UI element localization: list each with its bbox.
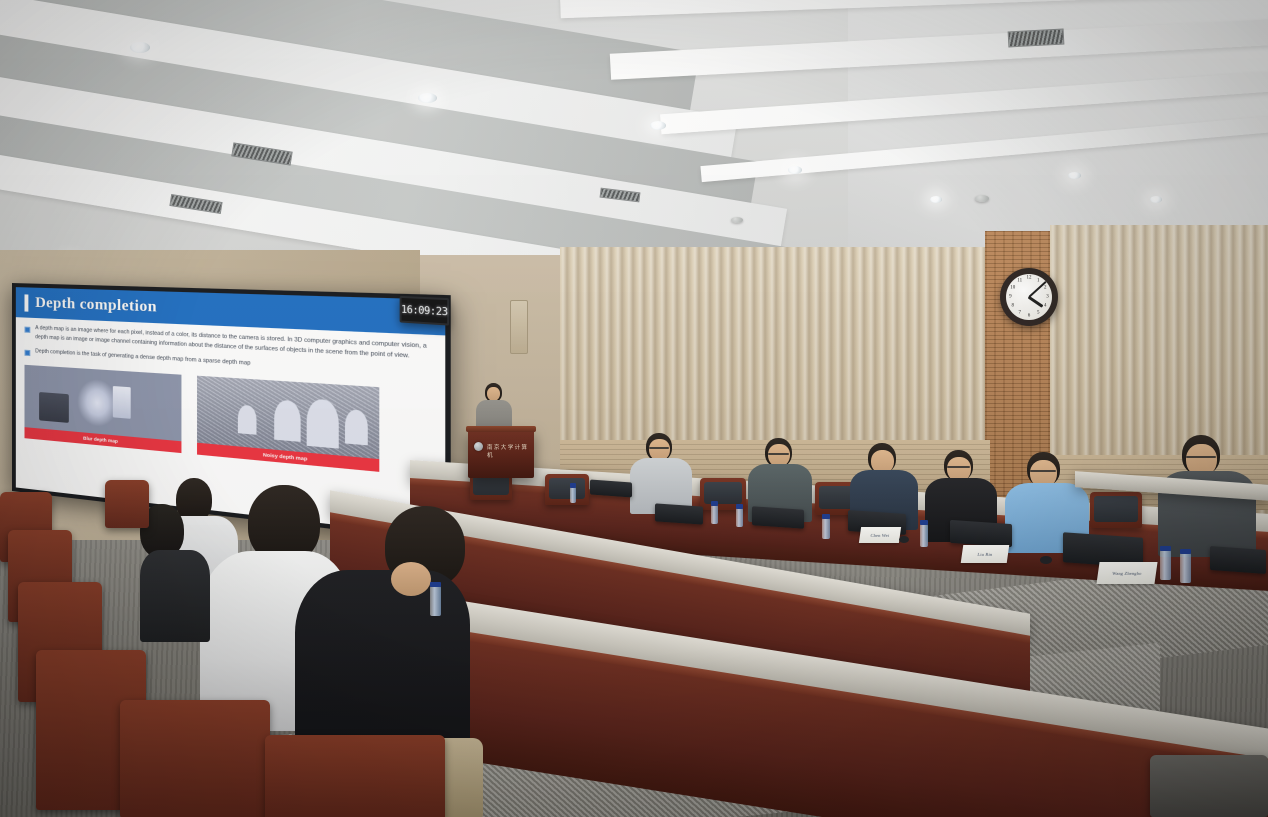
downlight-icon [130, 42, 150, 53]
microphone-icon[interactable] [899, 536, 909, 543]
downlight-icon [788, 166, 802, 174]
bullet-square-icon [24, 350, 30, 356]
name-card-text: Liu Bin [977, 552, 993, 557]
bottle-cap [920, 520, 928, 525]
clock-numeral: 1 [1037, 278, 1040, 283]
figure-caption-text: Noisy depth map [263, 452, 307, 462]
depth-person-blob [274, 400, 300, 442]
water-bottle[interactable] [570, 487, 576, 503]
smoke-detector-icon [975, 195, 989, 202]
conference-chair[interactable] [545, 474, 589, 505]
microphone-icon[interactable] [1040, 556, 1052, 564]
figure-noisy-depth-map: Noisy depth map [197, 376, 379, 472]
bottle-cap [711, 501, 718, 506]
clock-hour-hand [1028, 296, 1044, 308]
clock-numeral: 11 [1017, 278, 1022, 283]
slide-title: Depth completion [35, 294, 157, 316]
digital-wall-clock: 16:09:23 [400, 296, 449, 326]
presenter-face [487, 387, 500, 401]
laptop[interactable] [950, 520, 1012, 547]
water-bottle[interactable] [1160, 550, 1171, 580]
depth-person-blob [307, 398, 339, 448]
bottle-cap [570, 483, 576, 488]
wall-speaker [510, 300, 528, 354]
auditorium-chair[interactable] [105, 480, 149, 528]
auditorium-chair[interactable] [265, 735, 445, 817]
name-card: Liu Bin [961, 545, 1010, 563]
clock-numeral: 7 [1018, 311, 1021, 316]
chair-seat-pad [704, 482, 743, 504]
depth-bright-doorway [113, 386, 131, 419]
downlight-icon [418, 93, 437, 103]
water-bottle[interactable] [430, 586, 441, 616]
clock-numeral: 12 [1026, 276, 1031, 281]
downlight-icon [1068, 172, 1081, 179]
laptop[interactable] [752, 506, 804, 529]
audience-arm-hand [391, 562, 431, 596]
depth-person-blob [238, 404, 257, 434]
water-bottle[interactable] [711, 505, 718, 524]
air-vent-icon [1008, 29, 1065, 48]
panel-member [630, 433, 692, 511]
water-bottle[interactable] [920, 524, 928, 547]
bullet-square-icon [24, 327, 30, 333]
podium-institution-text: 南京大学计算机 [487, 443, 534, 459]
clock-numeral: 10 [1010, 285, 1015, 290]
name-card: Chen Wei [859, 527, 901, 543]
name-card-text: Wang Zhengbo [1112, 571, 1142, 576]
chair-seat-pad [549, 478, 586, 500]
downlight-icon [1150, 196, 1162, 203]
audience-member [140, 498, 210, 628]
chair-seat-pad [1094, 496, 1138, 521]
podium: 南京大学计算机 [468, 430, 534, 478]
clock-numeral: 3 [1046, 294, 1049, 299]
digital-clock-time: 16:09:23 [401, 303, 448, 319]
glasses-icon [649, 447, 669, 449]
depth-foreground-block [39, 392, 69, 423]
glasses-icon [1186, 456, 1216, 458]
downlight-icon [930, 196, 942, 203]
glasses-icon [1030, 470, 1056, 472]
audience-torso [140, 550, 210, 642]
bottle-cap [430, 582, 441, 587]
laptop[interactable] [590, 480, 632, 498]
water-bottle[interactable] [1180, 553, 1191, 583]
bottle-cap [1160, 546, 1171, 551]
water-bottle[interactable] [736, 508, 743, 527]
water-bottle[interactable] [822, 518, 830, 539]
auditorium-chair[interactable] [120, 700, 270, 817]
podium-top-surface [466, 426, 536, 432]
conference-room-photo: 12 1 2 3 4 5 6 7 8 9 10 11 Depth complet… [0, 0, 1268, 817]
conference-chair[interactable] [1090, 492, 1142, 528]
clock-numeral: 8 [1012, 304, 1015, 309]
smoke-detector-icon [731, 217, 743, 223]
clock-numeral: 2 [1044, 285, 1047, 290]
bottle-cap [822, 514, 830, 519]
clock-numeral: 4 [1044, 304, 1047, 309]
clock-numeral: 5 [1037, 311, 1040, 316]
figure-caption-text: Blur depth map [83, 436, 118, 444]
laptop[interactable] [1210, 546, 1266, 574]
floor-equipment [1150, 755, 1268, 817]
downlight-icon [650, 121, 666, 130]
clock-numeral: 6 [1028, 313, 1031, 318]
laptop[interactable] [655, 503, 703, 524]
glasses-icon [947, 466, 970, 468]
name-card-text: Chen Wei [870, 533, 890, 538]
bottle-cap [736, 504, 743, 509]
bottle-cap [1180, 549, 1191, 554]
clock-numeral: 9 [1009, 294, 1012, 299]
figure-blur-depth-map: Blur depth map [24, 365, 181, 453]
name-card: Wang Zhengbo [1096, 562, 1157, 584]
depth-person-blob [345, 409, 368, 445]
glasses-icon [768, 453, 789, 455]
wall-clock-face: 12 1 2 3 4 5 6 7 8 9 10 11 [1006, 274, 1052, 320]
university-seal-icon [474, 442, 483, 451]
slide-figures: Blur depth map Noisy depth map [16, 360, 445, 478]
slide-title-marker-icon [24, 294, 28, 311]
wall-clock: 12 1 2 3 4 5 6 7 8 9 10 11 [1000, 268, 1058, 326]
